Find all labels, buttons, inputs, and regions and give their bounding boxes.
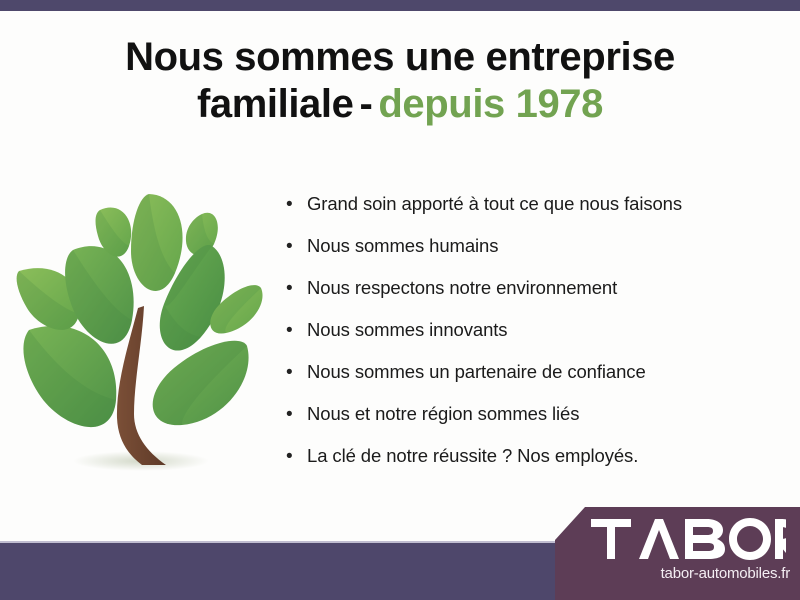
list-item-label: Nous respectons notre environnement bbox=[307, 277, 617, 299]
list-item: • Nous sommes un partenaire de confiance bbox=[286, 361, 756, 403]
tree-leaf-lower-right bbox=[153, 341, 249, 425]
logo-wordmark-tabor bbox=[591, 517, 786, 561]
title-line-1: Nous sommes une entreprise bbox=[40, 34, 760, 81]
bullet-marker-icon: • bbox=[286, 363, 307, 382]
list-item-label: La clé de notre réussite ? Nos employés. bbox=[307, 445, 638, 467]
bullet-marker-icon: • bbox=[286, 405, 307, 424]
list-item: • Nous sommes humains bbox=[286, 235, 756, 277]
list-item-label: Grand soin apporté à tout ce que nous fa… bbox=[307, 193, 682, 215]
list-item: • Nous respectons notre environnement bbox=[286, 277, 756, 319]
bullet-marker-icon: • bbox=[286, 279, 307, 298]
bullet-marker-icon: • bbox=[286, 447, 307, 466]
brand-logo-panel: tabor-automobiles.fr bbox=[555, 507, 800, 600]
list-item-label: Nous et notre région sommes liés bbox=[307, 403, 579, 425]
tree-leaf-top-center bbox=[131, 194, 183, 291]
slide-canvas: Nous sommes une entreprise familiale-dep… bbox=[0, 0, 800, 600]
list-item-label: Nous sommes un partenaire de confiance bbox=[307, 361, 646, 383]
list-item: • Nous sommes innovants bbox=[286, 319, 756, 361]
list-item-label: Nous sommes innovants bbox=[307, 319, 507, 341]
list-item: • Nous et notre région sommes liés bbox=[286, 403, 756, 445]
value-bullet-list: • Grand soin apporté à tout ce que nous … bbox=[286, 193, 756, 487]
tree-illustration bbox=[16, 178, 268, 480]
title-accent-year: depuis 1978 bbox=[378, 82, 603, 126]
logo-tagline: tabor-automobiles.fr bbox=[555, 565, 790, 582]
list-item-label: Nous sommes humains bbox=[307, 235, 498, 257]
top-accent-bar bbox=[0, 0, 800, 11]
bullet-marker-icon: • bbox=[286, 321, 307, 340]
list-item: • Grand soin apporté à tout ce que nous … bbox=[286, 193, 756, 235]
list-item: • La clé de notre réussite ? Nos employé… bbox=[286, 445, 756, 487]
bullet-marker-icon: • bbox=[286, 237, 307, 256]
page-title: Nous sommes une entreprise familiale-dep… bbox=[40, 34, 760, 128]
tree-leaf-upper-left bbox=[65, 246, 134, 344]
bullet-marker-icon: • bbox=[286, 195, 307, 214]
title-line-2: familiale-depuis 1978 bbox=[40, 81, 760, 128]
tree-illustration-svg bbox=[16, 178, 268, 480]
title-line-2-prefix: familiale bbox=[197, 82, 353, 126]
title-dash: - bbox=[353, 82, 378, 126]
